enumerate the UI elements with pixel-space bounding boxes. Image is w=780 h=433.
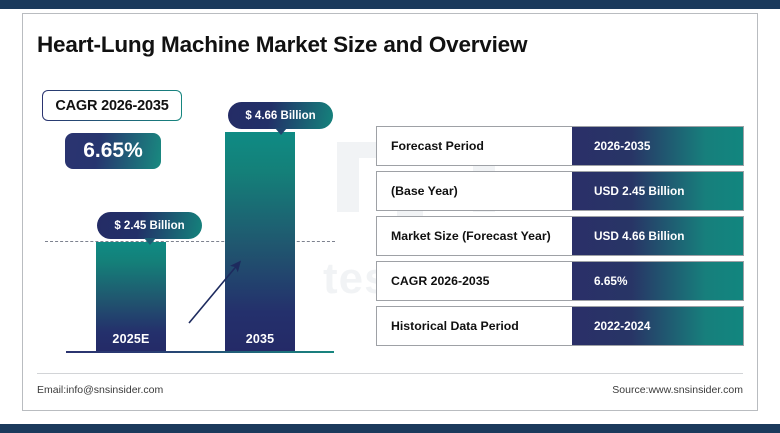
table-row: (Base Year) USD 2.45 Billion (376, 171, 744, 211)
bar-category-label-1: 2035 (225, 332, 295, 346)
table-cell-value: USD 4.66 Billion (572, 217, 743, 255)
bar-2025e: 2025E (96, 242, 166, 352)
bar-value-pill-2035: $ 4.66 Billion (228, 102, 333, 129)
growth-arrow-icon (183, 254, 253, 329)
bar-value-label-1: $ 4.66 Billion (245, 110, 315, 122)
table-cell-label: Market Size (Forecast Year) (377, 217, 572, 255)
bar-chart: 2025E 2035 $ 2.45 Billion $ 4.66 Billion (23, 14, 383, 411)
table-cell-label: Forecast Period (377, 127, 572, 165)
table-cell-label: Historical Data Period (377, 307, 572, 345)
footer-source: Source:www.snsinsider.com (612, 384, 743, 396)
table-row: CAGR 2026-2035 6.65% (376, 261, 744, 301)
footer-divider (37, 373, 743, 374)
bar-category-label-0: 2025E (96, 332, 166, 346)
top-accent-bar (0, 0, 780, 9)
content-card: tesearch Heart-Lung Machine Market Size … (22, 13, 758, 411)
table-row: Forecast Period 2026-2035 (376, 126, 744, 166)
table-cell-label: CAGR 2026-2035 (377, 262, 572, 300)
bar-value-label-0: $ 2.45 Billion (114, 220, 184, 232)
footer-email: Email:info@snsinsider.com (37, 384, 163, 396)
table-cell-value: USD 2.45 Billion (572, 172, 743, 210)
table-cell-value: 2026-2035 (572, 127, 743, 165)
infographic-root: tesearch Heart-Lung Machine Market Size … (0, 0, 780, 433)
table-row: Historical Data Period 2022-2024 (376, 306, 744, 346)
table-cell-value: 6.65% (572, 262, 743, 300)
bottom-accent-bar (0, 424, 780, 433)
chart-baseline-axis (66, 351, 334, 353)
table-row: Market Size (Forecast Year) USD 4.66 Bil… (376, 216, 744, 256)
bar-value-pill-2025e: $ 2.45 Billion (97, 212, 202, 239)
summary-table: Forecast Period 2026-2035 (Base Year) US… (376, 126, 744, 346)
table-cell-label: (Base Year) (377, 172, 572, 210)
table-cell-value: 2022-2024 (572, 307, 743, 345)
